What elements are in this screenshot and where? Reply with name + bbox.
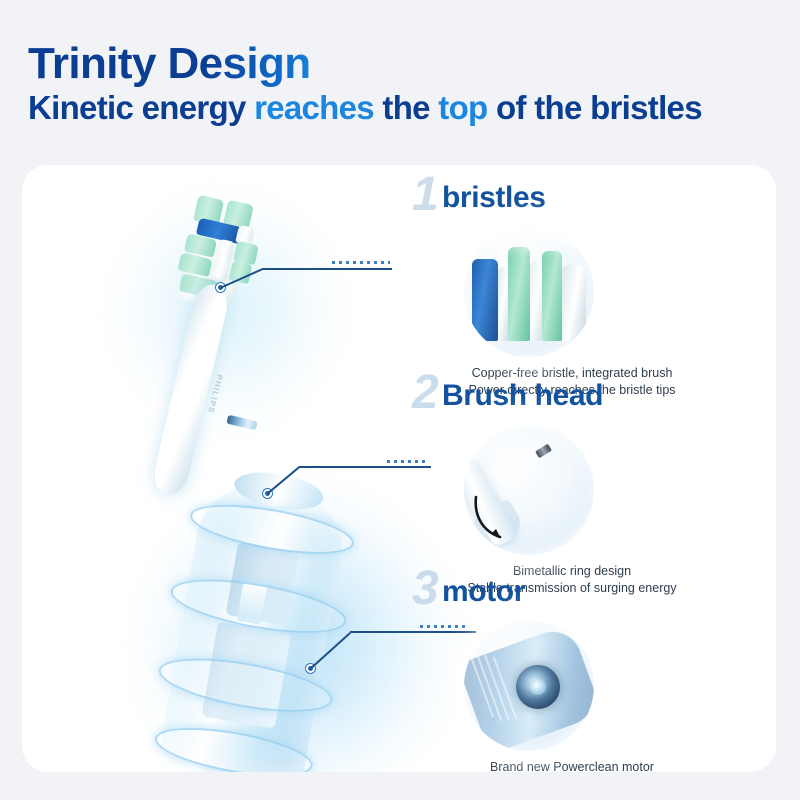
subtitle-part-of-the-bristles: of the bristles xyxy=(496,89,702,126)
toothbrush-handle xyxy=(157,477,351,772)
handle-glow xyxy=(152,495,442,772)
internal-component-lower xyxy=(202,621,292,728)
brush-neck xyxy=(150,281,231,498)
toothbrush-product-photo: PHILIPS xyxy=(22,165,422,772)
callout-3-label: motor xyxy=(442,575,525,609)
bristle-cluster xyxy=(169,192,279,319)
callout-brush-head: 2 Brush head Bimetallic ring design Stab… xyxy=(412,377,732,597)
brand-logo-text: PHILIPS xyxy=(206,373,224,414)
callout-3-number: 3 xyxy=(412,565,439,613)
callout-bristles: 1 bristles Copper-free bristle, integrat… xyxy=(412,179,732,399)
page-subtitle: Kinetic energy reaches the top of the br… xyxy=(28,91,778,126)
callout-2-number: 2 xyxy=(412,369,439,417)
motor-hub xyxy=(516,665,560,709)
callout-3-caption: Brand new Powerclean motor Generate deep… xyxy=(412,759,732,772)
energy-ring-3 xyxy=(155,648,336,722)
leader-diagonal-2 xyxy=(266,466,299,494)
bimetallic-ring xyxy=(535,444,552,459)
callout-2-label: Brush head xyxy=(442,379,603,413)
subtitle-part-reaches: reaches xyxy=(254,89,382,126)
leader-horizontal-1 xyxy=(262,268,392,270)
subtitle-part-kinetic-energy: Kinetic energy xyxy=(28,89,254,126)
callout-2-header: 2 Brush head xyxy=(412,377,732,423)
energy-ring-1 xyxy=(187,495,357,563)
brush-collar xyxy=(226,415,257,431)
callout-1-label: bristles xyxy=(442,181,546,215)
head-glow xyxy=(132,195,322,425)
infographic-card: PHILIPS 1 xyxy=(22,165,776,772)
internal-component-shaft xyxy=(237,581,268,625)
handle-body xyxy=(157,477,351,772)
leader-diagonal-1 xyxy=(220,268,263,288)
callout-1-header: 1 bristles xyxy=(412,179,732,225)
bristle-macro-photo xyxy=(464,227,594,357)
page-title: Trinity Design xyxy=(28,42,778,87)
energy-ring-2 xyxy=(167,569,350,643)
leader-diagonal-3 xyxy=(309,632,350,669)
callout-motor: 3 motor Brand new Powerclean motor Gener… xyxy=(412,573,732,772)
subtitle-part-top: top xyxy=(438,89,496,126)
heading-block: Trinity Design Kinetic energy reaches th… xyxy=(28,42,778,126)
brush-head-tip xyxy=(175,233,235,308)
callout-3-header: 3 motor xyxy=(412,573,732,619)
energy-ring-4 xyxy=(152,719,317,772)
rotation-arrow-icon xyxy=(470,493,526,545)
brush-head-macro-photo xyxy=(464,425,594,555)
page-title-part-trinity: Trinity xyxy=(28,39,167,88)
internal-component-upper xyxy=(226,542,300,626)
callout-1-number: 1 xyxy=(412,171,439,219)
page-title-part-design: Design xyxy=(167,39,310,88)
handle-joint xyxy=(232,466,327,515)
motor-macro-photo xyxy=(464,621,594,751)
leader-dashes-1 xyxy=(332,261,390,264)
subtitle-part-the: the xyxy=(382,89,438,126)
motor-hub-core xyxy=(530,679,546,695)
callout-3-caption-line1: Brand new Powerclean motor xyxy=(412,759,732,772)
